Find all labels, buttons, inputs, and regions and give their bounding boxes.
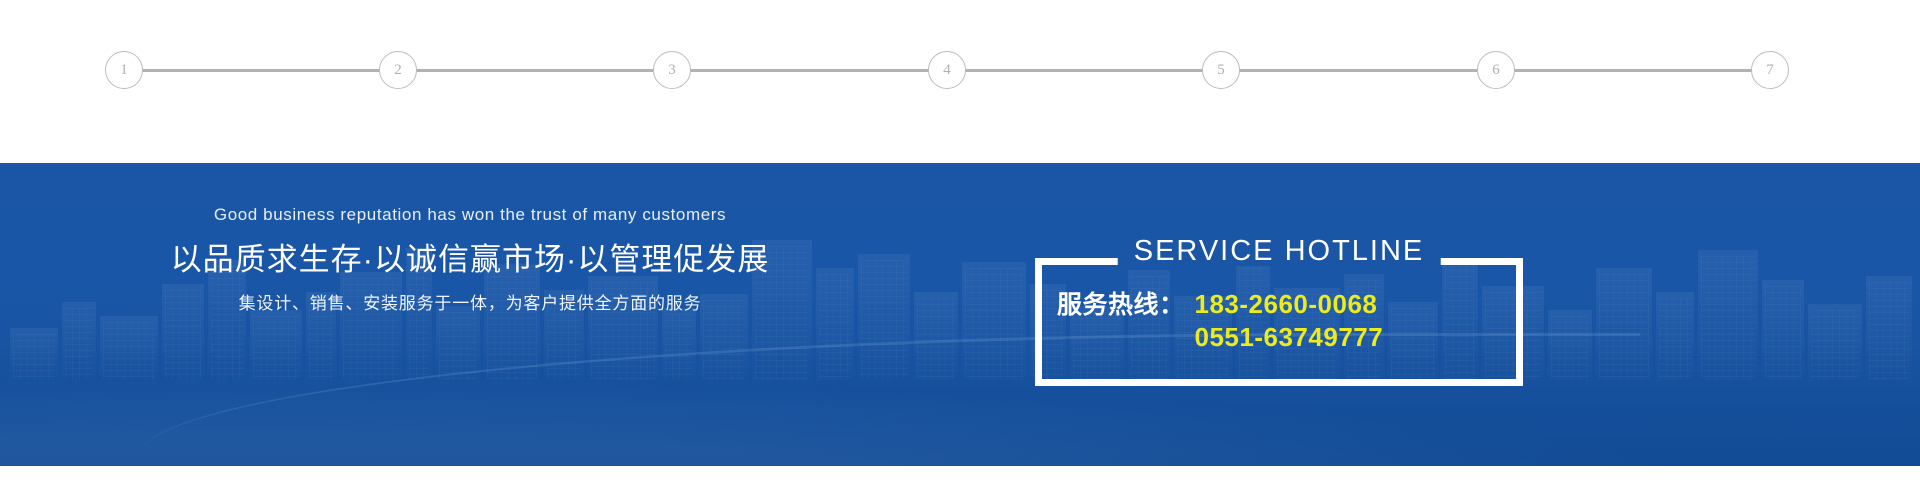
step-node-label: 2	[394, 63, 402, 78]
service-hotline-box: SERVICE HOTLINE 服务热线： 183-2660-0068 服务热线…	[1035, 258, 1523, 386]
page-root: 1 2 3 4 5 6 7	[0, 0, 1920, 500]
step-node-3[interactable]: 3	[653, 51, 691, 89]
step-node-label: 4	[943, 63, 951, 78]
slogan-english-line: Good business reputation has won the tru…	[0, 205, 940, 225]
step-node-6[interactable]: 6	[1477, 51, 1515, 89]
slogan-chinese-subline: 集设计、销售、安装服务于一体，为客户提供全方面的服务	[0, 293, 940, 314]
hotline-row-primary: 服务热线： 183-2660-0068	[1057, 288, 1501, 321]
step-node-label: 6	[1492, 63, 1500, 78]
promo-banner: Good business reputation has won the tru…	[0, 163, 1920, 466]
hotline-rows: 服务热线： 183-2660-0068 服务热线： 0551-63749777	[1035, 288, 1523, 355]
slogan-chinese-headline: 以品质求生存·以诚信赢市场·以管理促发展	[0, 241, 940, 280]
step-node-5[interactable]: 5	[1202, 51, 1240, 89]
step-node-4[interactable]: 4	[928, 51, 966, 89]
footer-whitespace	[0, 466, 1920, 500]
hotline-row-secondary: 服务热线： 0551-63749777	[1057, 321, 1501, 354]
roadway-image	[0, 356, 1920, 466]
step-node-label: 3	[668, 63, 676, 78]
step-node-1[interactable]: 1	[105, 51, 143, 89]
step-node-label: 1	[120, 63, 128, 78]
step-node-7[interactable]: 7	[1751, 51, 1789, 89]
step-indicator: 1 2 3 4 5 6 7	[0, 0, 1920, 163]
hotline-title: SERVICE HOTLINE	[1118, 237, 1441, 266]
hotline-label: 服务热线：	[1057, 289, 1185, 321]
hotline-number-secondary[interactable]: 0551-63749777	[1195, 321, 1384, 354]
step-node-label: 7	[1766, 63, 1774, 78]
step-node-2[interactable]: 2	[379, 51, 417, 89]
step-node-label: 5	[1217, 63, 1225, 78]
slogan-block: Good business reputation has won the tru…	[0, 205, 940, 314]
hotline-number-primary[interactable]: 183-2660-0068	[1195, 288, 1378, 321]
